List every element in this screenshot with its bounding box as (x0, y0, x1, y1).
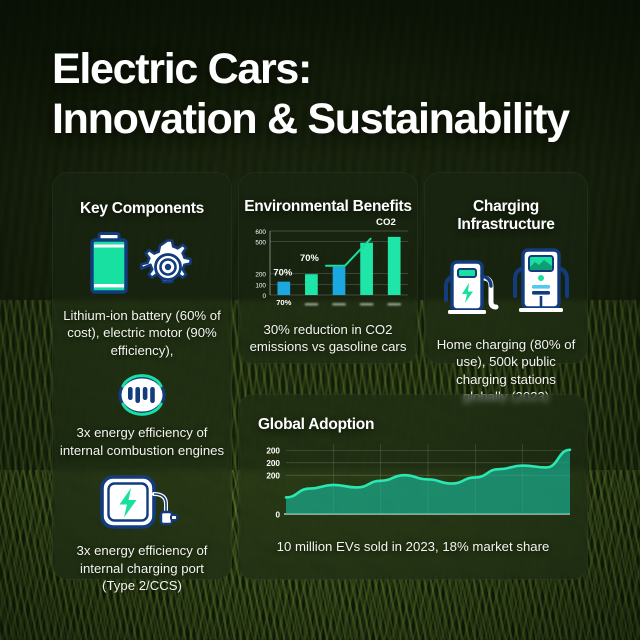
area-chart-y-tick: 200 (266, 459, 280, 468)
bar-chart-y-tick: 100 (255, 282, 266, 289)
bar-chart-svg: 010020050060070%▬▬▬▬▬▬▬▬▬▬▬▬70%70%CO2 (244, 225, 412, 313)
key-components-text-3: 3x energy efficiency of internal chargin… (52, 542, 232, 594)
global-adoption-area-chart: 0200200200 (248, 438, 578, 532)
bar-chart-y-tick: 600 (255, 229, 266, 236)
gear-icon (139, 234, 197, 292)
area-chart-y-tick: 0 (275, 510, 280, 519)
card-title-environmental-benefits: Environmental Benefits (238, 198, 418, 216)
environmental-benefits-bar-chart: 010020050060070%▬▬▬▬▬▬▬▬▬▬▬▬70%70%CO2 (238, 225, 418, 313)
bar-chart-annotation: 70% (300, 252, 319, 263)
environmental-benefits-caption: 30% reduction in CO2 emissions vs gasoli… (238, 321, 418, 356)
bar-chart-x-tick: ▬▬▬ (388, 301, 402, 306)
area-chart-y-tick: 200 (266, 472, 280, 481)
bar-chart-x-tick: ▬▬▬ (305, 301, 319, 306)
card-charging-infrastructure: Charging Infrastructure (424, 172, 588, 364)
bar-chart-y-tick: 0 (262, 293, 266, 300)
bar-chart-bar (305, 274, 318, 295)
bar-chart-x-tick: ▬▬▬ (360, 301, 374, 306)
bar-chart-x-tick: ▬▬▬ (332, 301, 346, 306)
bar-chart-annotation: CO2 (376, 217, 396, 228)
bar-chart-bar (333, 267, 346, 295)
area-chart-y-tick: 200 (266, 447, 280, 456)
bar-chart-bar (277, 282, 290, 295)
bar-chart-y-tick: 200 (255, 272, 266, 279)
global-adoption-caption: 10 million EVs sold in 2023, 18% market … (238, 538, 588, 555)
card-environmental-benefits: Environmental Benefits 010020050060070%▬… (238, 172, 418, 364)
battery-icon (87, 232, 131, 294)
combustion-engine-icon-wrap (52, 373, 232, 417)
page-title: Electric Cars: Innovation & Sustainabili… (52, 44, 612, 145)
area-chart-svg: 0200200200 (248, 438, 578, 532)
charging-station-icon (438, 252, 500, 318)
card-title-charging-infrastructure: Charging Infrastructure (424, 198, 588, 234)
bar-chart-y-tick: 500 (255, 240, 266, 247)
charging-infrastructure-icon-row (424, 246, 588, 324)
combustion-engine-icon (112, 373, 172, 417)
charging-station-icon (508, 246, 574, 324)
bar-chart-annotation: 70% (273, 267, 292, 278)
page-title-line-1: Electric Cars: (52, 45, 311, 93)
bar-chart-bar (388, 237, 401, 295)
key-components-icon-row (52, 232, 232, 294)
card-key-components: Key Components Lithium-ion battery (60% (52, 172, 232, 580)
card-title-key-components: Key Components (52, 200, 232, 218)
charging-port-icon (99, 473, 185, 533)
bar-chart-x-tick: 70% (276, 298, 291, 307)
key-components-text-2: 3x energy efficiency of internal combust… (52, 424, 232, 459)
bar-chart-bar (360, 243, 373, 295)
key-components-text-1: Lithium-ion battery (60% of cost), elect… (52, 307, 232, 359)
charging-port-icon-wrap (52, 473, 232, 533)
card-title-global-adoption: Global Adoption (258, 416, 374, 434)
card-global-adoption: Global Adoption 0200200200 10 million EV… (238, 394, 588, 580)
page-title-line-2: Innovation & Sustainability (52, 94, 612, 144)
